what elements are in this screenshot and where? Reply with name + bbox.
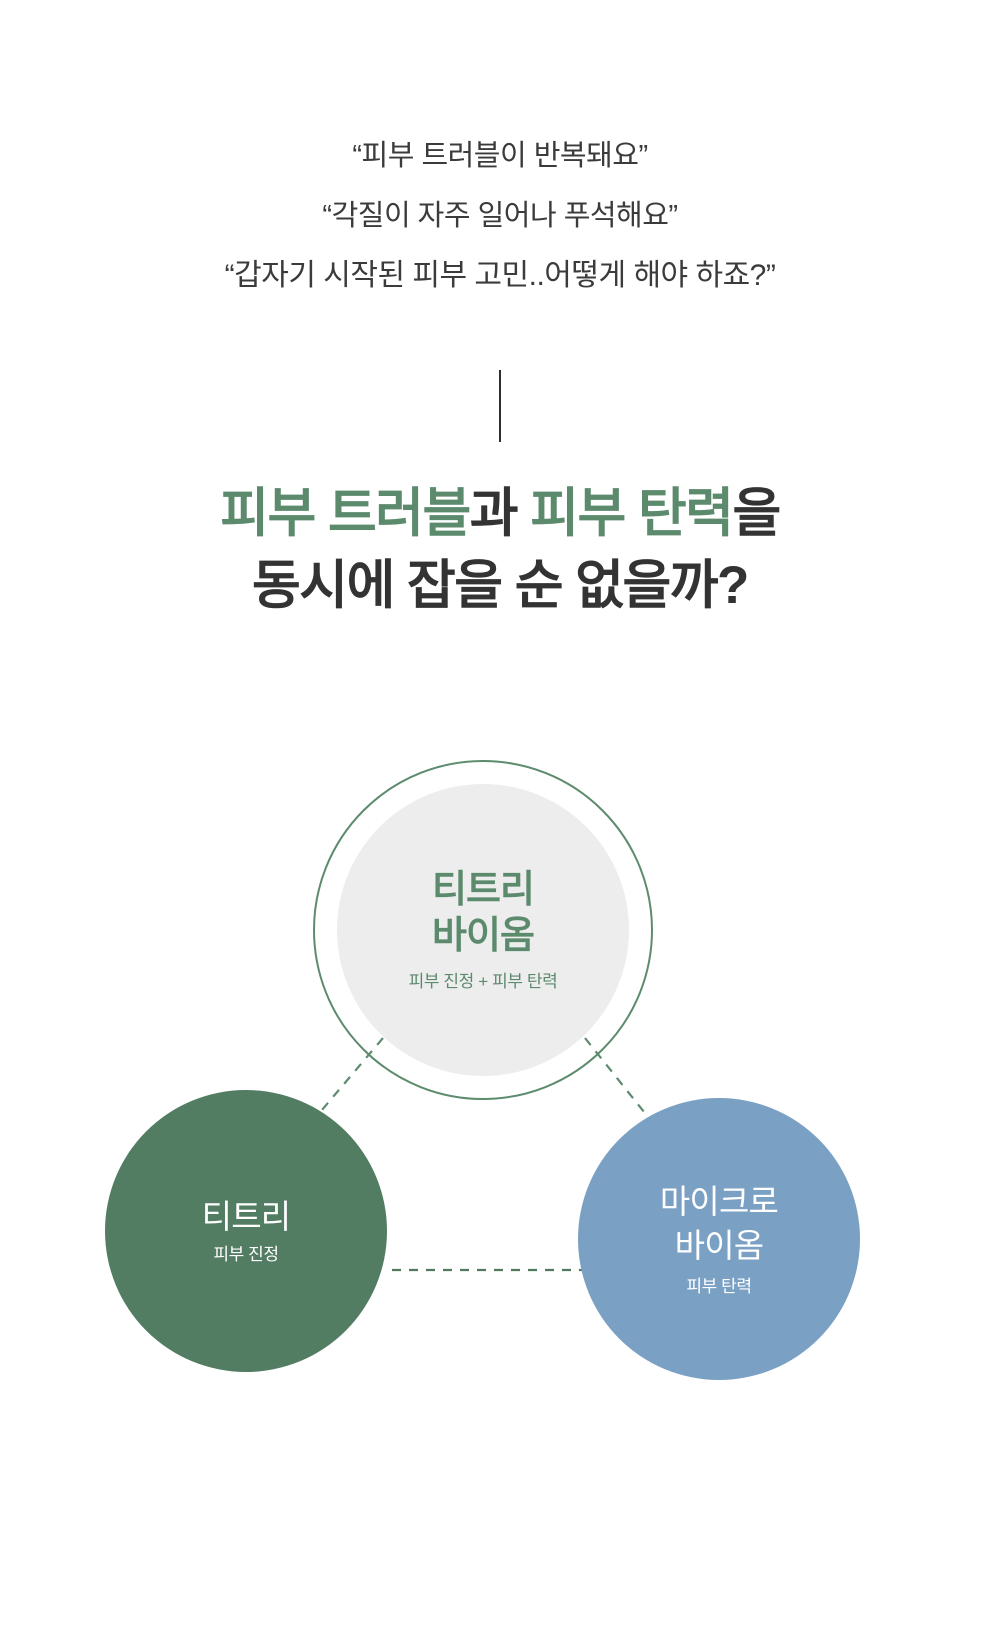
headline-line-2: 동시에 잡을 순 없을까? [0, 550, 1000, 622]
node-microbiome[interactable]: 마이크로 바이옴 피부 탄력 [578, 1098, 860, 1380]
venn-diagram: 티트리 바이옴 피부 진정 + 피부 탄력 티트리 피부 진정 마이크로 바이옴… [0, 700, 1000, 1420]
headline-highlight-trouble: 피부 트러블 [220, 484, 470, 543]
node-tea-tree-biome-subtitle: 피부 진정 + 피부 탄력 [409, 971, 558, 993]
node-tea-tree[interactable]: 티트리 피부 진정 [105, 1090, 387, 1372]
quote-line-3: “갑자기 시작된 피부 고민..어떻게 해야 하죠?” [0, 246, 1000, 306]
node-tea-tree-biome[interactable]: 티트리 바이옴 피부 진정 + 피부 탄력 [337, 784, 629, 1076]
headline-line-1: 피부 트러블과 피부 탄력을 [0, 478, 1000, 550]
quote-line-1: “피부 트러블이 반복돼요” [0, 126, 1000, 186]
quote-block: “피부 트러블이 반복돼요” “각질이 자주 일어나 푸석해요” “갑자기 시작… [0, 126, 1000, 306]
node-tea-tree-subtitle: 피부 진정 [213, 1244, 278, 1266]
headline-block: 피부 트러블과 피부 탄력을 동시에 잡을 순 없을까? [0, 478, 1000, 622]
node-tea-tree-biome-title-line2: 바이옴 [432, 913, 534, 959]
headline-particle-1: 과 [470, 484, 531, 543]
node-tea-tree-title: 티트리 [202, 1196, 291, 1238]
quote-line-2: “각질이 자주 일어나 푸석해요” [0, 186, 1000, 246]
node-microbiome-subtitle: 피부 탄력 [686, 1276, 751, 1298]
headline-particle-2: 을 [733, 484, 780, 543]
infographic-page: “피부 트러블이 반복돼요” “각질이 자주 일어나 푸석해요” “갑자기 시작… [0, 0, 1000, 1630]
node-tea-tree-biome-title: 티트리 바이옴 [432, 867, 534, 959]
headline-highlight-elasticity: 피부 탄력 [530, 484, 732, 543]
node-tea-tree-biome-title-line1: 티트리 [432, 867, 534, 913]
node-microbiome-title-line2: 바이옴 [660, 1224, 778, 1268]
node-microbiome-title: 마이크로 바이옴 [660, 1180, 778, 1268]
node-microbiome-title-line1: 마이크로 [660, 1180, 778, 1224]
vertical-divider [499, 370, 501, 442]
